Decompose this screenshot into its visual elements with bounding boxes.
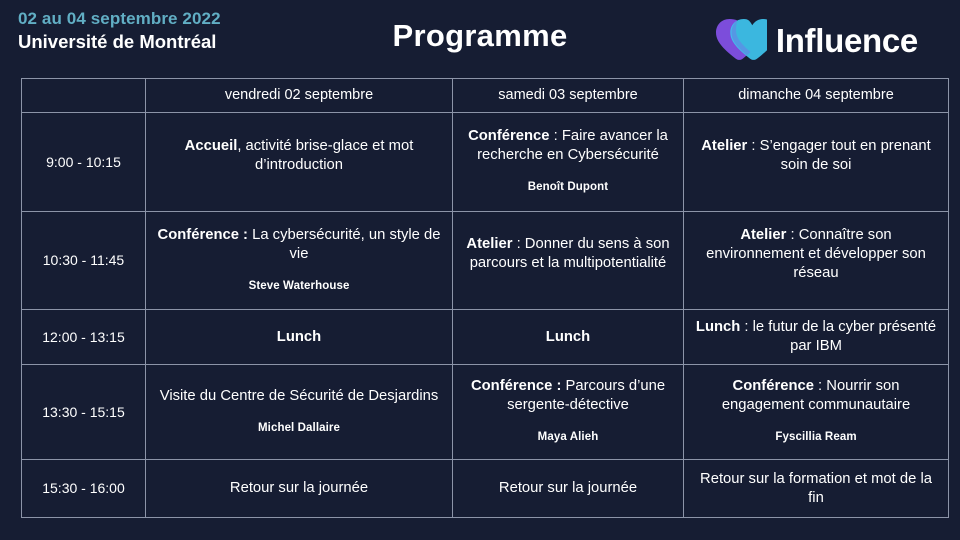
session-cell-friday: Visite du Centre de Sécurité de Desjardi… [146, 365, 453, 460]
session-title: Atelier : S’engager tout en prenant soin… [694, 137, 938, 175]
session-cell-saturday: Conférence : Parcours d’une sergente-dét… [453, 365, 684, 460]
session-detail: : Connaître son environnement et dévelop… [706, 227, 926, 281]
session-kind: Lunch [277, 329, 321, 345]
session-title: Lunch [463, 328, 673, 347]
session-cell-friday: Lunch [146, 310, 453, 365]
session-title: Atelier : Connaître son environnement et… [694, 226, 938, 283]
session-title: Accueil, activité brise-glace et mot d’i… [156, 137, 442, 175]
table-body: 9:00 - 10:15 Accueil, activité brise-gla… [22, 113, 949, 518]
session-cell-saturday: Lunch [453, 310, 684, 365]
session-detail: Retour sur la formation et mot de la fin [700, 471, 932, 506]
session-title: Lunch : le futur de la cyber présenté pa… [694, 318, 938, 356]
session-detail: Retour sur la journée [230, 480, 368, 496]
time-slot: 13:30 - 15:15 [22, 365, 146, 460]
session-title: Conférence : Nourrir son engagement comm… [694, 377, 938, 415]
programme-schedule-table: vendredi 02 septembre samedi 03 septembr… [21, 78, 949, 518]
time-slot: 9:00 - 10:15 [22, 113, 146, 212]
session-cell-saturday: Conférence : Faire avancer la recherche … [453, 113, 684, 212]
session-cell-saturday: Retour sur la journée [453, 460, 684, 518]
table-header: vendredi 02 septembre samedi 03 septembr… [22, 79, 949, 113]
session-title: Retour sur la formation et mot de la fin [694, 470, 938, 508]
session-detail: , activité brise-glace et mot d’introduc… [237, 138, 413, 173]
session-cell-friday: Retour sur la journée [146, 460, 453, 518]
column-header-time [22, 79, 146, 113]
session-title: Conférence : Faire avancer la recherche … [463, 127, 673, 165]
time-slot: 10:30 - 11:45 [22, 212, 146, 310]
table-row: 9:00 - 10:15 Accueil, activité brise-gla… [22, 113, 949, 212]
session-title: Conférence : La cybersécurité, un style … [156, 226, 442, 264]
session-speaker: Steve Waterhouse [156, 277, 442, 296]
session-kind: Conférence : [158, 227, 248, 243]
table-row: 13:30 - 15:15 Visite du Centre de Sécuri… [22, 365, 949, 460]
session-title: Retour sur la journée [463, 479, 673, 498]
session-title: Conférence : Parcours d’une sergente-dét… [463, 377, 673, 415]
session-speaker: Benoît Dupont [463, 178, 673, 197]
table-row: 12:00 - 13:15 Lunch Lunch Lunch : le fut… [22, 310, 949, 365]
session-cell-friday: Accueil, activité brise-glace et mot d’i… [146, 113, 453, 212]
session-kind: Atelier [466, 236, 512, 252]
time-slot: 15:30 - 16:00 [22, 460, 146, 518]
session-kind: Atelier [740, 227, 786, 243]
page-header: 02 au 04 septembre 2022 Université de Mo… [0, 0, 960, 74]
session-kind: Conférence [733, 378, 814, 394]
overlapping-hearts-logo-icon [713, 16, 767, 62]
session-cell-sunday: Retour sur la formation et mot de la fin [684, 460, 949, 518]
session-cell-sunday: Atelier : S’engager tout en prenant soin… [684, 113, 949, 212]
column-header-friday: vendredi 02 septembre [146, 79, 453, 113]
brand-logo: Influence [713, 14, 918, 64]
session-speaker: Fyscillia Ream [694, 428, 938, 447]
session-title: Visite du Centre de Sécurité de Desjardi… [156, 387, 442, 406]
session-kind: Accueil [185, 138, 238, 154]
session-detail: Retour sur la journée [499, 480, 637, 496]
column-header-sunday: dimanche 04 septembre [684, 79, 949, 113]
session-detail: La cybersécurité, un style de vie [248, 227, 440, 262]
session-kind: Lunch [696, 319, 740, 335]
brand-wordmark: Influence [776, 24, 918, 57]
session-detail: Visite du Centre de Sécurité de Desjardi… [160, 388, 439, 404]
session-cell-sunday: Atelier : Connaître son environnement et… [684, 212, 949, 310]
session-detail: : le futur de la cyber présenté par IBM [740, 319, 936, 354]
session-title: Lunch [156, 328, 442, 347]
session-kind: Lunch [546, 329, 590, 345]
session-speaker: Michel Dallaire [156, 419, 442, 438]
session-title: Retour sur la journée [156, 479, 442, 498]
session-kind: Atelier [701, 138, 747, 154]
table-row: 15:30 - 16:00 Retour sur la journée Reto… [22, 460, 949, 518]
time-slot: 12:00 - 13:15 [22, 310, 146, 365]
table-header-row: vendredi 02 septembre samedi 03 septembr… [22, 79, 949, 113]
session-kind: Conférence [468, 128, 549, 144]
session-cell-sunday: Lunch : le futur de la cyber présenté pa… [684, 310, 949, 365]
session-cell-friday: Conférence : La cybersécurité, un style … [146, 212, 453, 310]
column-header-saturday: samedi 03 septembre [453, 79, 684, 113]
session-speaker: Maya Alieh [463, 428, 673, 447]
session-title: Atelier : Donner du sens à son parcours … [463, 235, 673, 273]
session-detail: : S’engager tout en prenant soin de soi [747, 138, 930, 173]
table-row: 10:30 - 11:45 Conférence : La cybersécur… [22, 212, 949, 310]
session-cell-sunday: Conférence : Nourrir son engagement comm… [684, 365, 949, 460]
session-cell-saturday: Atelier : Donner du sens à son parcours … [453, 212, 684, 310]
session-kind: Conférence : [471, 378, 561, 394]
